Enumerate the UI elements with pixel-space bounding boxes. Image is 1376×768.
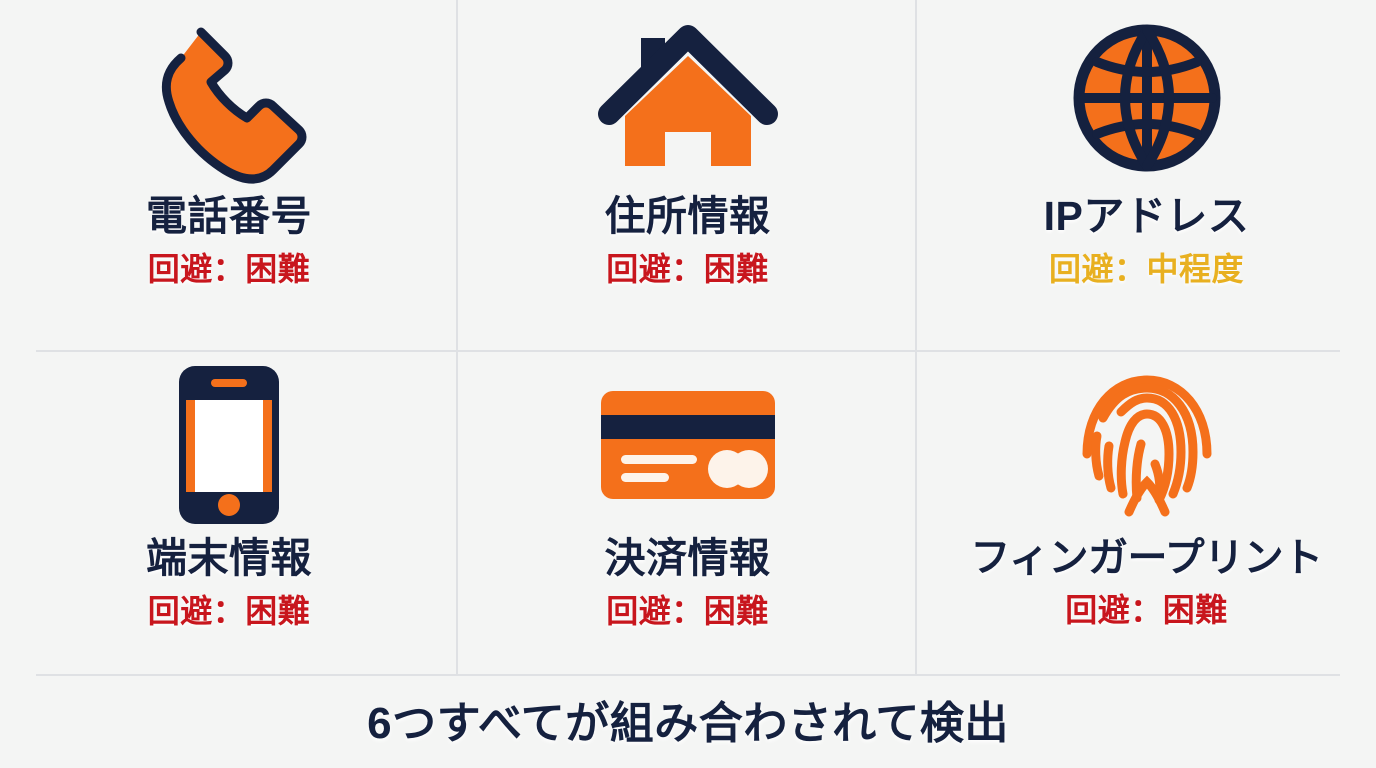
signal-cell-address-info: 住所情報 回避：困難 bbox=[458, 0, 917, 352]
signal-title: 電話番号 bbox=[146, 196, 312, 237]
signal-title: フィンガープリント bbox=[970, 538, 1322, 578]
house-icon bbox=[599, 0, 777, 196]
signal-title: 決済情報 bbox=[605, 538, 771, 579]
signal-cell-payment-info: 決済情報 回避：困難 bbox=[458, 352, 917, 674]
tracking-signals-infographic: 電話番号 回避：困難 住所情報 回避：困難 bbox=[0, 0, 1376, 768]
signals-grid: 電話番号 回避：困難 住所情報 回避：困難 bbox=[0, 0, 1376, 674]
smartphone-icon bbox=[177, 352, 281, 538]
signal-title: 端末情報 bbox=[146, 538, 312, 579]
signal-title: IPアドレス bbox=[1044, 196, 1250, 237]
signal-cell-device-info: 端末情報 回避：困難 bbox=[0, 352, 458, 674]
signal-cell-ip-address: IPアドレス 回避：中程度 bbox=[917, 0, 1376, 352]
signal-cell-phone-number: 電話番号 回避：困難 bbox=[0, 0, 458, 352]
signal-status-badge: 回避：困難 bbox=[148, 253, 311, 285]
signal-status-badge: 回避：困難 bbox=[606, 253, 769, 285]
signal-cell-fingerprint: フィンガープリント 回避：困難 bbox=[917, 352, 1376, 674]
fingerprint-icon bbox=[1081, 352, 1213, 538]
signal-title: 住所情報 bbox=[605, 196, 771, 237]
signal-status-badge: 回避：困難 bbox=[606, 595, 769, 627]
signal-status-badge: 回避：中程度 bbox=[1049, 253, 1244, 285]
phone-handset-icon bbox=[143, 0, 315, 196]
signal-status-badge: 回避：困難 bbox=[148, 595, 311, 627]
footer-text: 6つすべてが組み合わされて検出 bbox=[367, 702, 1009, 746]
credit-card-icon bbox=[599, 352, 777, 538]
footer-summary: 6つすべてが組み合わされて検出 bbox=[0, 674, 1376, 768]
globe-icon bbox=[1069, 0, 1225, 196]
signal-status-badge: 回避：困難 bbox=[1065, 594, 1228, 626]
